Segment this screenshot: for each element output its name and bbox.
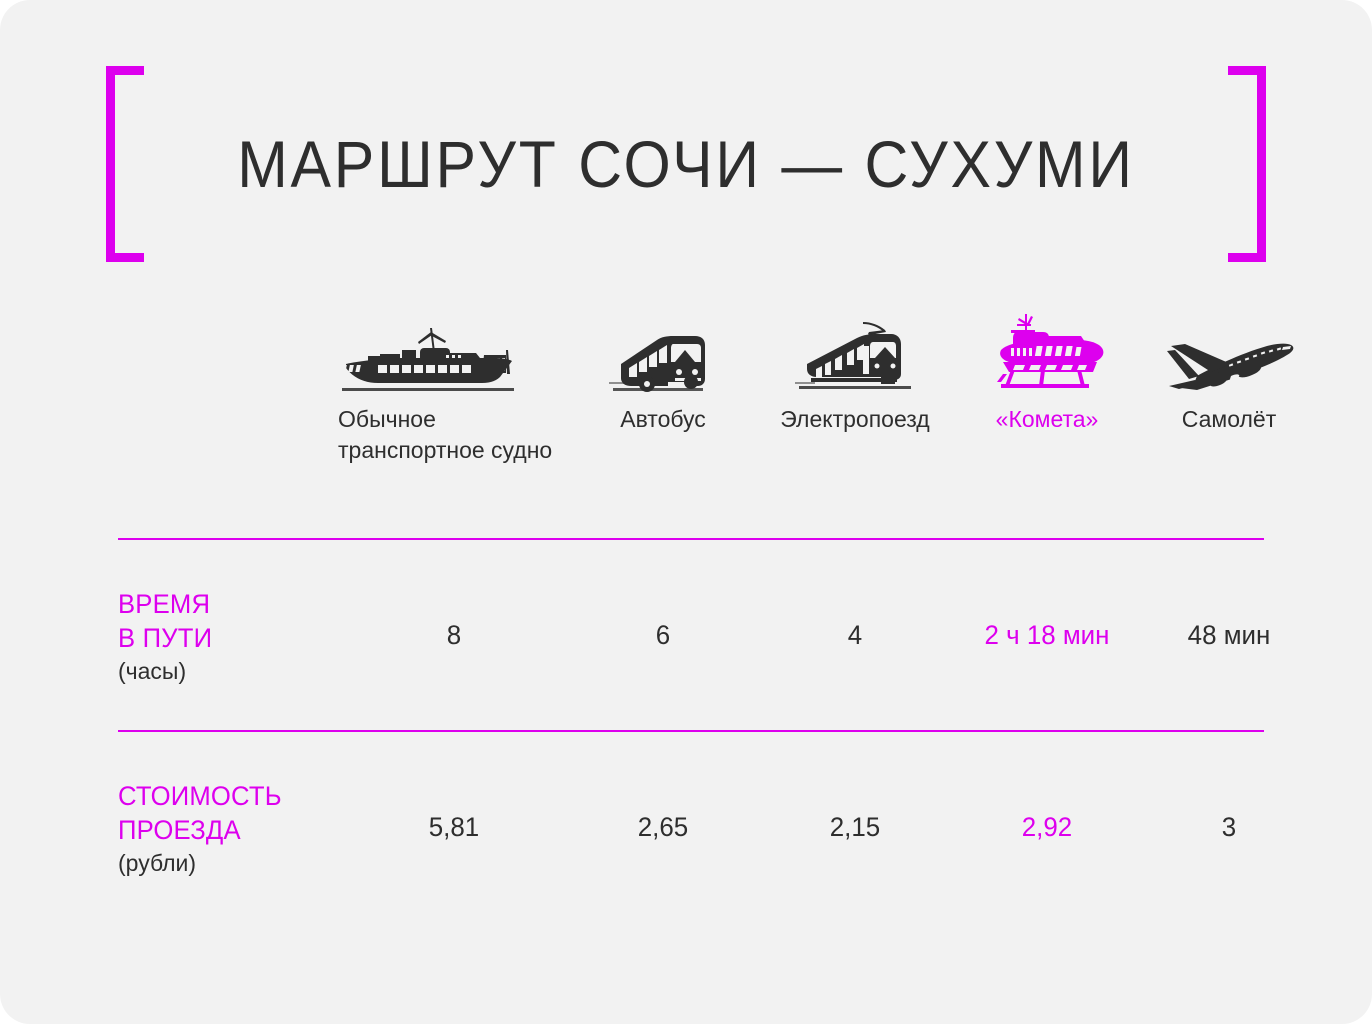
column-header-bus: Автобус xyxy=(570,296,756,538)
hydrofoil-icon xyxy=(954,306,1140,398)
cell-fare-komet: 2,92 xyxy=(958,812,1137,843)
bracket-left-icon xyxy=(106,66,144,262)
column-label-train: Электропоезд xyxy=(756,404,954,435)
cell-fare-ship: 5,81 xyxy=(343,812,566,843)
metric-title-fare-line2: ПРОЕЗДА xyxy=(118,813,327,847)
airplane-icon xyxy=(1140,306,1318,398)
cell-fare-bus: 2,65 xyxy=(574,812,753,843)
cell-fare-plane: 3 xyxy=(1144,812,1315,843)
column-header-ship: Обычное транспортное судно xyxy=(338,296,570,538)
metric-title-line1: ВРЕМЯ xyxy=(118,587,327,621)
ferry-icon xyxy=(338,306,570,398)
metric-title-line2: В ПУТИ xyxy=(118,621,327,655)
metric-title-fare-line1: СТОИМОСТЬ xyxy=(118,779,327,813)
cell-time-komet: 2 ч 18 мин xyxy=(958,620,1137,651)
column-label-plane: Самолёт xyxy=(1140,404,1318,435)
comparison-table: Обычное транспортное судно xyxy=(118,296,1264,922)
cell-time-ship: 8 xyxy=(343,620,566,651)
column-header-komet: «Комета» xyxy=(954,296,1140,538)
title-block: МАРШРУТ СОЧИ — СУХУМИ xyxy=(106,66,1266,262)
cell-time-bus: 6 xyxy=(574,620,753,651)
column-label-komet: «Комета» xyxy=(954,404,1140,435)
cell-fare-train: 2,15 xyxy=(760,812,950,843)
metric-unit-travel-time: (часы) xyxy=(118,656,338,686)
table-header-row: Обычное транспортное судно xyxy=(118,296,1264,538)
train-icon xyxy=(756,306,954,398)
table-row-travel-time: ВРЕМЯ В ПУТИ (часы) 8 6 4 2 ч 18 мин 48 … xyxy=(118,540,1264,730)
page-title: МАРШРУТ СОЧИ — СУХУМИ xyxy=(152,66,1219,262)
infographic-card: МАРШРУТ СОЧИ — СУХУМИ xyxy=(0,0,1372,1024)
metric-unit-fare: (рубли) xyxy=(118,848,338,878)
bus-icon xyxy=(570,306,756,398)
header-spacer xyxy=(118,296,338,538)
metric-label-travel-time: ВРЕМЯ В ПУТИ (часы) xyxy=(118,585,338,686)
column-header-plane: Самолёт xyxy=(1140,296,1318,538)
column-label-ship: Обычное транспортное судно xyxy=(338,404,570,466)
metric-label-fare: СТОИМОСТЬ ПРОЕЗДА (рубли) xyxy=(118,777,338,878)
bracket-right-icon xyxy=(1228,66,1266,262)
cell-time-train: 4 xyxy=(760,620,950,651)
table-row-fare: СТОИМОСТЬ ПРОЕЗДА (рубли) 5,81 2,65 2,15… xyxy=(118,732,1264,922)
column-header-train: Электропоезд xyxy=(756,296,954,538)
column-label-bus: Автобус xyxy=(570,404,756,435)
cell-time-plane: 48 мин xyxy=(1144,620,1315,651)
